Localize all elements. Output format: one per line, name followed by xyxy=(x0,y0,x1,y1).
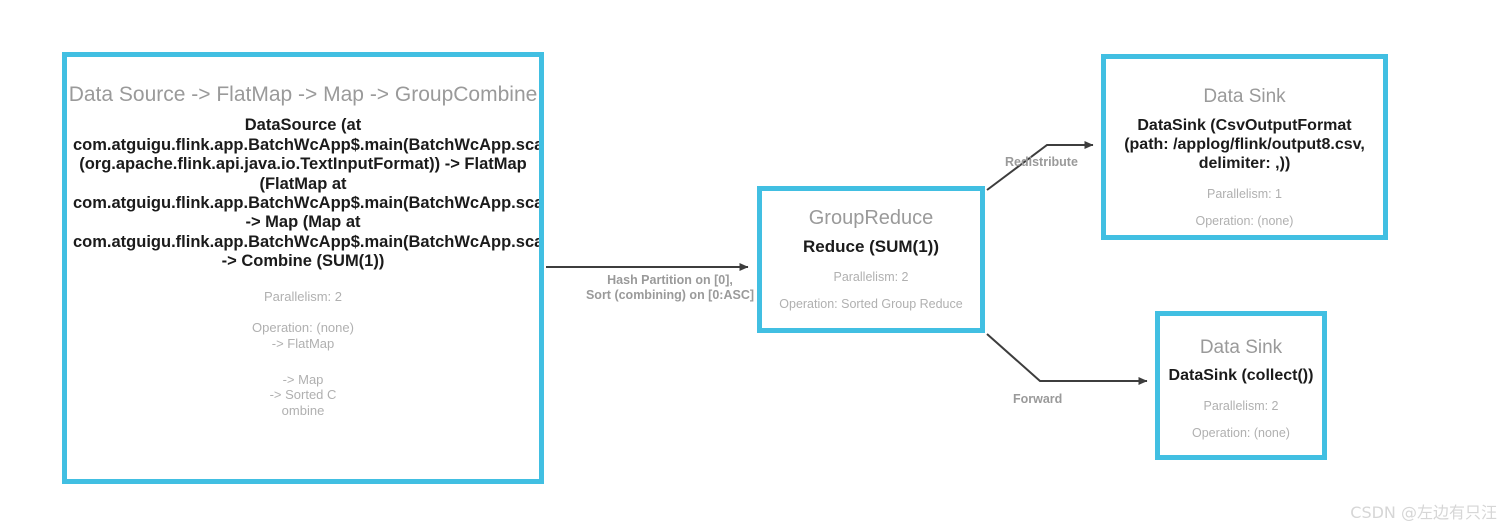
node-body-text: DataSink (CsvOutputFormat (path: /applog… xyxy=(1106,117,1383,174)
node-operation: Operation: (none) -> FlatMap xyxy=(67,320,539,351)
node-parallelism: Parallelism: 1 xyxy=(1106,187,1383,202)
node-group-reduce[interactable]: GroupReduce Reduce (SUM(1)) Parallelism:… xyxy=(757,186,985,333)
node-data-source-flatmap-map-groupcombine[interactable]: Data Source -> FlatMap -> Map -> GroupCo… xyxy=(62,52,544,484)
node-body-text: DataSource (at com.atguigu.flink.app.Bat… xyxy=(67,116,539,272)
node-body-text: DataSink (collect()) xyxy=(1160,367,1322,386)
node-parallelism: Parallelism: 2 xyxy=(67,289,539,305)
node-operation: Operation: (none) xyxy=(1160,426,1322,441)
edge-label-redistribute: Redistribute xyxy=(1005,155,1105,170)
node-operation: Operation: (none) xyxy=(1106,214,1383,229)
edge-label-hash-partition: Hash Partition on [0], Sort (combining) … xyxy=(585,273,755,303)
node-parallelism: Parallelism: 2 xyxy=(1160,399,1322,414)
diagram-canvas: Data Source -> FlatMap -> Map -> GroupCo… xyxy=(0,0,1509,529)
node-title: Data Sink xyxy=(1160,337,1322,359)
edge-groupreduce-to-sink-collect xyxy=(987,334,1147,381)
node-data-sink-csv[interactable]: Data Sink DataSink (CsvOutputFormat (pat… xyxy=(1101,54,1388,240)
node-data-sink-collect[interactable]: Data Sink DataSink (collect()) Paralleli… xyxy=(1155,311,1327,460)
node-operation-extra: -> Map -> Sorted C ombine xyxy=(67,372,539,419)
node-title: GroupReduce xyxy=(762,207,980,230)
node-title: Data Source -> FlatMap -> Map -> GroupCo… xyxy=(67,83,539,107)
node-title: Data Sink xyxy=(1106,86,1383,108)
node-body-text: Reduce (SUM(1)) xyxy=(762,237,980,257)
node-operation: Operation: Sorted Group Reduce xyxy=(762,297,980,312)
edge-label-forward: Forward xyxy=(1013,392,1103,407)
node-parallelism: Parallelism: 2 xyxy=(762,270,980,285)
csdn-watermark: CSDN @左边有只汪 xyxy=(1350,499,1497,523)
